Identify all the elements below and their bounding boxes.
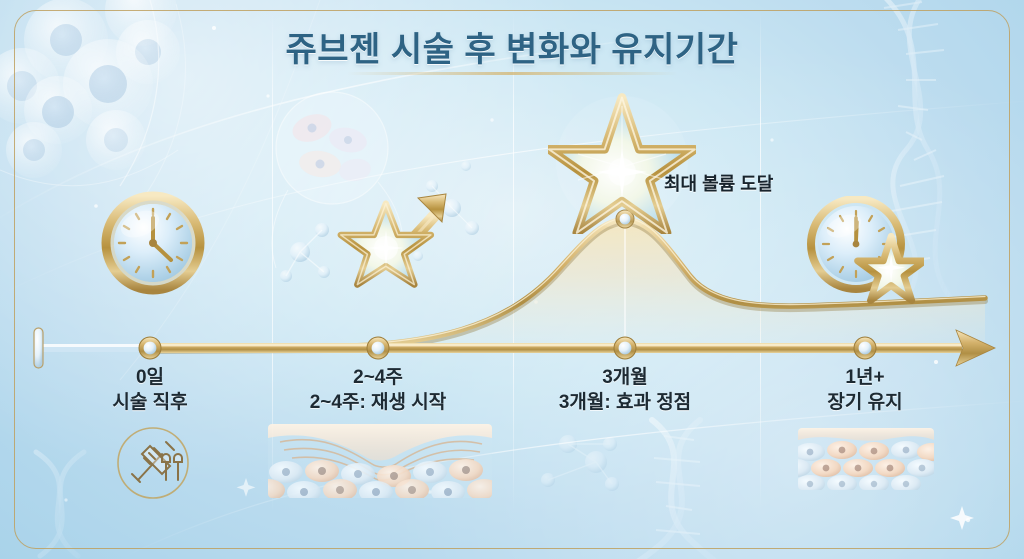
clock-star-icon	[806, 196, 924, 304]
stage-label-day0: 0일 시술 직후	[25, 366, 275, 415]
star-shape	[341, 204, 431, 285]
stage-desc-label: 장기 유지	[740, 391, 990, 416]
stage-desc-label: 3개월: 효과 정점	[500, 391, 750, 416]
timeline-marker-week2-4	[367, 337, 389, 359]
clock-icon	[100, 190, 206, 296]
timeline-marker-year1plus	[854, 337, 876, 359]
stage-time-label: 0일	[25, 366, 275, 391]
axis-leadin-top	[40, 344, 152, 347]
skin-wrinkle-illustration	[268, 424, 492, 498]
stage-label-week2-4: 2~4주 2~4주: 재생 시작	[253, 366, 503, 415]
axis-line-highlight	[148, 344, 962, 346]
star-arrow-icon	[330, 168, 460, 293]
stage-time-label: 2~4주	[253, 366, 503, 391]
timeline-marker-month3	[614, 337, 636, 359]
skin-cells-illustration	[798, 428, 934, 490]
stage-desc-label: 시술 직후	[25, 391, 275, 416]
syringe-icon	[108, 424, 198, 502]
peak-annotation: 최대 볼륨 도달	[664, 170, 773, 196]
stage-time-label: 1년+	[740, 366, 990, 391]
stage-label-year1plus: 1년+ 장기 유지	[740, 366, 990, 415]
axis-start-tick	[34, 328, 43, 368]
timeline-marker-day0	[139, 337, 161, 359]
stage-label-month3: 3개월 3개월: 효과 정점	[500, 366, 750, 415]
stage-time-label: 3개월	[500, 366, 750, 391]
stage-desc-label: 2~4주: 재생 시작	[253, 391, 503, 416]
big-star-icon	[548, 88, 696, 234]
infographic-canvas: 쥬브젠 시술 후 변화와 유지기간	[0, 0, 1024, 559]
